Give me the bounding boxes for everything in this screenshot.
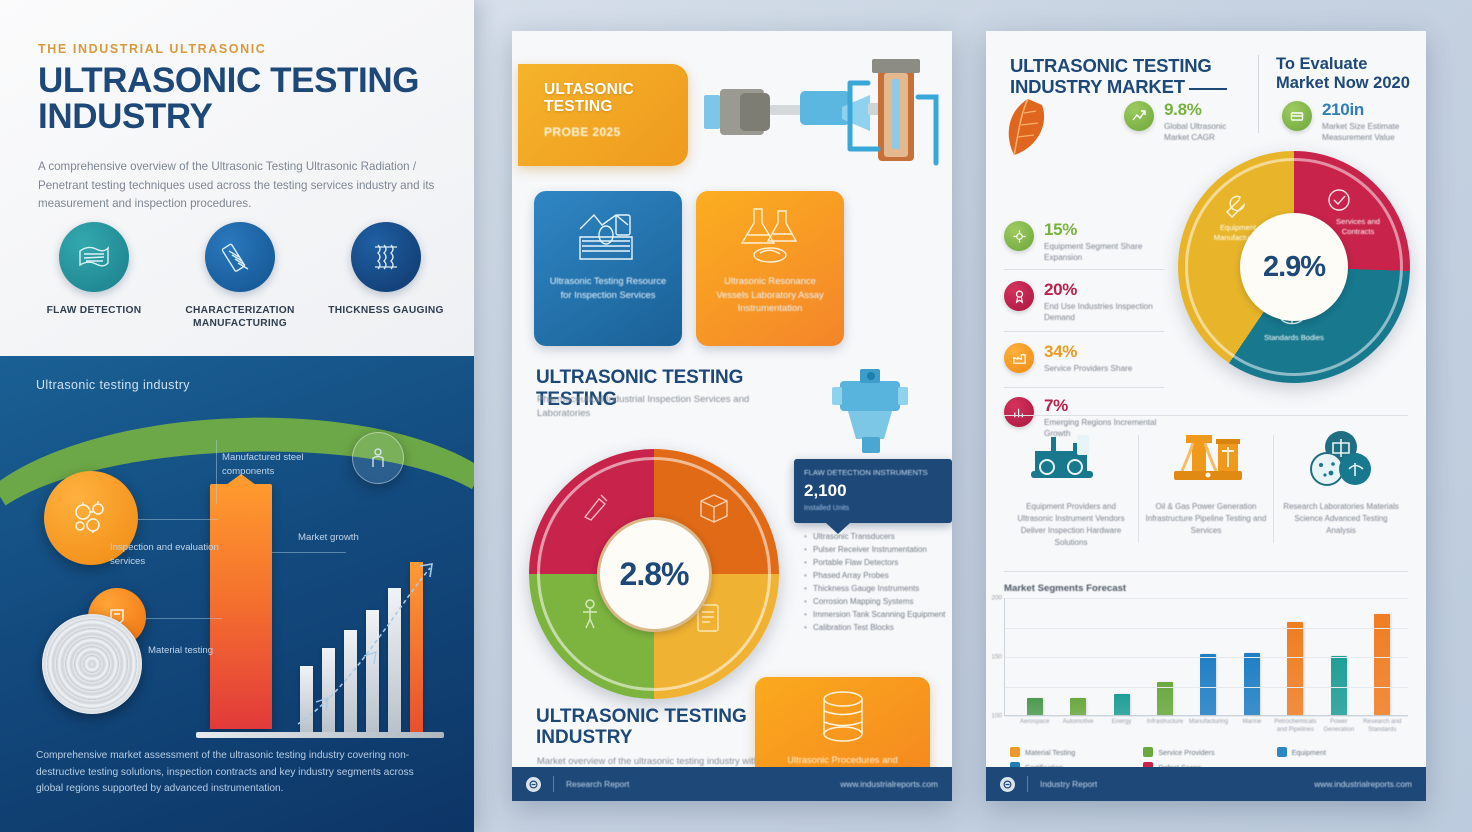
list-item: Calibration Test Blocks bbox=[804, 622, 952, 635]
feature-card[interactable]: Ultrasonic Testing Resource for Inspecti… bbox=[534, 191, 682, 346]
ribbon-icon bbox=[1004, 281, 1034, 311]
right-page-title: ULTRASONIC TESTING INDUSTRY MARKET bbox=[1010, 55, 1240, 98]
chart-gridline: 150 bbox=[1005, 628, 1408, 629]
feature-item-characterization[interactable]: CHARACTERIZATION MANUFACTURING bbox=[176, 222, 304, 331]
feature-card[interactable]: Ultrasonic Resonance Vessels Laboratory … bbox=[696, 191, 844, 346]
package-icon bbox=[697, 491, 731, 525]
section-divider bbox=[1004, 415, 1408, 416]
feature-item-thickness-gauging[interactable]: THICKNESS GAUGING bbox=[322, 222, 450, 331]
right-panel: ULTRASONIC TESTING INDUSTRY MARKET To Ev… bbox=[986, 31, 1426, 801]
stat-caption: End Use Industries Inspection Demand bbox=[1044, 301, 1169, 324]
stat-item: 210in Market Size Estimate Measurement V… bbox=[1282, 101, 1417, 144]
stat-caption: Equipment Segment Share Expansion bbox=[1044, 241, 1169, 264]
list-item: Ultrasonic Transducers bbox=[804, 531, 952, 544]
section-subheading: Pharmaceutical Industrial Inspection Ser… bbox=[537, 393, 797, 422]
industry-card[interactable]: Oil & Gas Power Generation Infrastructur… bbox=[1139, 429, 1273, 549]
chart-x-label: Automotive bbox=[1056, 718, 1099, 734]
connector-line bbox=[272, 552, 346, 553]
chart-bar bbox=[1027, 698, 1043, 715]
stat-value: 15% bbox=[1044, 221, 1169, 238]
eyebrow-text: THE INDUSTRIAL ULTRASONIC bbox=[38, 42, 438, 56]
trend-arrow bbox=[294, 552, 446, 732]
legend-label: Service Providers bbox=[1158, 748, 1214, 757]
right-secondary-title: To Evaluate Market Now 2020 bbox=[1276, 55, 1416, 94]
layered-material-icon bbox=[351, 222, 421, 292]
industrial-machine-icon bbox=[1025, 429, 1117, 487]
stat-item: 15% Equipment Segment Share Expansion bbox=[1004, 221, 1169, 264]
footer-left-text: Industry Report bbox=[1040, 779, 1097, 789]
stat-caption: Market Size Estimate Measurement Value bbox=[1322, 121, 1417, 144]
wrench-icon bbox=[1220, 191, 1250, 221]
donut-center: 2.9% bbox=[1240, 213, 1348, 321]
gear-icon bbox=[1004, 221, 1034, 251]
donut-center: 2.8% bbox=[597, 517, 712, 632]
infographic-canvas: THE INDUSTRIAL ULTRASONIC ULTRASONIC TES… bbox=[0, 0, 1472, 832]
ultrasonic-probe-illustration bbox=[692, 53, 952, 183]
list-item: Corrosion Mapping Systems bbox=[804, 596, 952, 609]
legend-item: Equipment bbox=[1277, 747, 1410, 757]
brand-logo-icon bbox=[526, 777, 541, 792]
legend-swatch bbox=[1143, 747, 1153, 757]
stat-value: 34% bbox=[1044, 343, 1132, 360]
flasks-icon bbox=[734, 203, 806, 265]
segment-donut-chart: Services and Contracts Standards Bodies … bbox=[1178, 151, 1410, 383]
legend-item: Service Providers bbox=[1143, 747, 1276, 757]
chart-bar bbox=[1287, 622, 1303, 715]
market-share-donut-chart: 2.8% bbox=[529, 449, 779, 699]
feature-card-row: Ultrasonic Testing Resource for Inspecti… bbox=[534, 191, 844, 346]
chart-plot-area: AerospaceAutomotiveEnergyInfrastructureM… bbox=[1004, 598, 1408, 716]
chart-gridline: 200 bbox=[1005, 598, 1408, 599]
chart-x-label: Aerospace bbox=[1013, 718, 1056, 734]
connector-line bbox=[146, 618, 222, 619]
leaf-icon bbox=[1000, 97, 1056, 159]
drum-container-icon bbox=[812, 689, 874, 745]
footer-right-text[interactable]: www.industrialreports.com bbox=[840, 779, 938, 789]
metal-disc-specimen bbox=[42, 614, 142, 714]
badge-subtitle: PROBE 2025 bbox=[544, 125, 674, 139]
refinery-plant-icon bbox=[1160, 429, 1252, 487]
stat-value: 210in bbox=[1322, 101, 1417, 118]
chart-bar bbox=[1331, 656, 1347, 715]
right-title-text: ULTRASONIC TESTING INDUSTRY MARKET bbox=[1010, 55, 1212, 97]
card-caption: Equipment Providers and Ultrasonic Instr… bbox=[1010, 501, 1132, 549]
list-item: Phased Array Probes bbox=[804, 570, 952, 583]
stat-item: 9.8% Global Ultrasonic Market CAGR bbox=[1124, 101, 1249, 144]
chart-gridline: 100 bbox=[1005, 657, 1408, 658]
feature-label: FLAW DETECTION bbox=[30, 304, 158, 317]
chart-x-labels: AerospaceAutomotiveEnergyInfrastructureM… bbox=[1013, 718, 1404, 734]
industry-card-row: Equipment Providers and Ultrasonic Instr… bbox=[1004, 429, 1408, 549]
factory-icon bbox=[1004, 343, 1034, 373]
chart-x-label: Energy bbox=[1100, 718, 1143, 734]
middle-footer: Research Report www.industrialreports.co… bbox=[512, 767, 952, 801]
stat-caption: Service Providers Share bbox=[1044, 363, 1132, 374]
footer-divider bbox=[1027, 776, 1028, 792]
list-item: Portable Flaw Detectors bbox=[804, 557, 952, 570]
stat-divider bbox=[1004, 387, 1164, 388]
valve-assembly-illustration bbox=[812, 361, 942, 471]
chart-gridline: 0 bbox=[1005, 716, 1408, 717]
chart-x-label: Marine bbox=[1230, 718, 1273, 734]
growth-icon bbox=[1124, 101, 1154, 131]
donut-center-value: 2.9% bbox=[1263, 251, 1325, 284]
page-title: ULTRASONIC TESTING INDUSTRY bbox=[38, 63, 438, 136]
stat-divider bbox=[1004, 269, 1164, 270]
bullet-list: Ultrasonic Transducers Pulser Receiver I… bbox=[804, 531, 952, 635]
weld-plate-icon bbox=[59, 222, 129, 292]
inspector-bubble-icon bbox=[352, 432, 404, 484]
donut-center-value: 2.8% bbox=[620, 556, 689, 593]
stat-divider bbox=[1004, 331, 1164, 332]
vertical-divider bbox=[1258, 55, 1259, 133]
card-caption: Ultrasonic Resonance Vessels Laboratory … bbox=[707, 274, 833, 315]
list-item: Thickness Gauge Instruments bbox=[804, 583, 952, 596]
stat-value: 9.8% bbox=[1164, 101, 1249, 118]
title-rule bbox=[1189, 88, 1227, 90]
primary-bar bbox=[210, 484, 272, 729]
stat-item: 34% Service Providers Share bbox=[1004, 343, 1169, 374]
card-caption: Ultrasonic Testing Resource for Inspecti… bbox=[545, 274, 671, 301]
industry-card[interactable]: Research Laboratories Materials Science … bbox=[1274, 429, 1408, 549]
legend-label: Material Testing bbox=[1025, 748, 1075, 757]
chart-bar bbox=[1244, 653, 1260, 715]
section-divider bbox=[1004, 571, 1408, 572]
list-item: Immersion Tank Scanning Equipment bbox=[804, 609, 952, 622]
card-caption: Oil & Gas Power Generation Infrastructur… bbox=[1145, 501, 1267, 537]
chart-bar bbox=[1070, 698, 1086, 715]
stat-item: 20% End Use Industries Inspection Demand bbox=[1004, 281, 1169, 324]
research-circles-icon bbox=[1295, 429, 1387, 487]
chart-bar bbox=[1374, 614, 1390, 715]
segments-bar-chart: Market Segments Forecast AerospaceAutomo… bbox=[1004, 583, 1408, 743]
inspector-person-icon bbox=[573, 597, 607, 631]
legend-item: Material Testing bbox=[1010, 747, 1143, 757]
test-bench-icon bbox=[572, 203, 644, 265]
chart-bar bbox=[1114, 694, 1130, 715]
industry-card[interactable]: Equipment Providers and Ultrasonic Instr… bbox=[1004, 429, 1138, 549]
feature-item-flaw-detection[interactable]: FLAW DETECTION bbox=[30, 222, 158, 331]
chart-x-label: Manufacturing bbox=[1187, 718, 1230, 734]
chart-title: Market Segments Forecast bbox=[1004, 583, 1408, 594]
ladder-probe-icon bbox=[205, 222, 275, 292]
left-footer-text: Comprehensive market assessment of the u… bbox=[36, 748, 436, 798]
chart-gridline: 50 bbox=[1005, 687, 1408, 688]
right-footer: Industry Report www.industrialreports.co… bbox=[986, 767, 1426, 801]
chart-callout-label: Market growth bbox=[298, 531, 368, 545]
legend-swatch bbox=[1277, 747, 1287, 757]
section-heading-2: ULTRASONIC TESTING INDUSTRY bbox=[536, 707, 786, 749]
probe-tool-icon bbox=[579, 489, 613, 523]
footer-divider bbox=[553, 776, 554, 792]
clipboard-check-icon bbox=[1324, 185, 1354, 215]
chart-baseline bbox=[196, 732, 444, 738]
chart-callout-label: Manufactured steel components bbox=[222, 451, 352, 479]
feature-icon-row: FLAW DETECTION CHARACTERIZATION MANUFACT… bbox=[30, 222, 450, 331]
connector-line bbox=[138, 519, 218, 520]
left-panel-chart-section: Ultrasonic testing industry bbox=[0, 356, 474, 832]
chart-icon bbox=[1004, 397, 1034, 427]
chart-callout-label: Material testing bbox=[148, 644, 238, 658]
stat-caption: Global Ultrasonic Market CAGR bbox=[1164, 121, 1249, 144]
middle-panel: ULTASONIC TESTING PROBE 2025 bbox=[512, 31, 952, 801]
chart-x-label: Infrastructure bbox=[1143, 718, 1186, 734]
chart-x-label: Power Generation bbox=[1317, 718, 1360, 734]
footer-left-text: Research Report bbox=[566, 779, 629, 789]
footer-right-text[interactable]: www.industrialreports.com bbox=[1314, 779, 1412, 789]
stat-callout-box: FLAW DETECTION INSTRUMENTS 2,100 Install… bbox=[794, 459, 952, 523]
intro-paragraph: A comprehensive overview of the Ultrason… bbox=[38, 158, 438, 214]
list-item: Pulser Receiver Instrumentation bbox=[804, 544, 952, 557]
chart-bar bbox=[1200, 654, 1216, 715]
callout-caption: Installed Units bbox=[804, 503, 942, 512]
stat-value: 20% bbox=[1044, 281, 1169, 298]
title-badge: ULTASONIC TESTING PROBE 2025 bbox=[518, 64, 688, 166]
left-panel: THE INDUSTRIAL ULTRASONIC ULTRASONIC TES… bbox=[0, 0, 474, 832]
stat-value: 7% bbox=[1044, 397, 1169, 414]
card-caption: Research Laboratories Materials Science … bbox=[1280, 501, 1402, 537]
chart-x-label: Petrochemicals and Pipelines bbox=[1274, 718, 1317, 734]
badge-title: ULTASONIC TESTING bbox=[544, 81, 674, 116]
chart-x-label: Research and Standards bbox=[1361, 718, 1404, 734]
brand-logo-icon bbox=[1000, 777, 1015, 792]
segment-label: Standards Bodies bbox=[1258, 333, 1330, 343]
connector-line bbox=[216, 440, 217, 504]
feature-label: THICKNESS GAUGING bbox=[322, 304, 450, 317]
chart-y-tick: 200 bbox=[991, 595, 1002, 602]
chart-callout-label: Inspection and evaluation services bbox=[110, 541, 240, 569]
legend-label: Equipment bbox=[1292, 748, 1326, 757]
chart-y-tick: 100 bbox=[991, 713, 1002, 720]
report-icon bbox=[1282, 101, 1312, 131]
legend-swatch bbox=[1010, 747, 1020, 757]
callout-number: 2,100 bbox=[804, 481, 942, 501]
callout-title: FLAW DETECTION INSTRUMENTS bbox=[804, 468, 942, 478]
chart-y-tick: 150 bbox=[991, 654, 1002, 661]
section-subtitle: Ultrasonic testing industry bbox=[36, 378, 190, 392]
feature-label: CHARACTERIZATION MANUFACTURING bbox=[176, 304, 304, 331]
